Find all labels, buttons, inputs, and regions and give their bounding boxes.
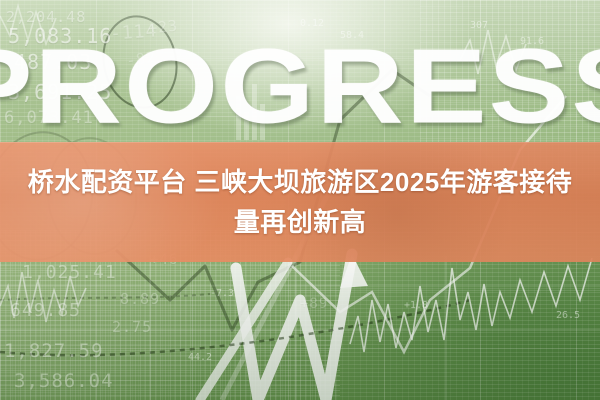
headline-line-1: 桥水配资平台 三峡大坝旅游区2025年游客接待 (20, 162, 581, 202)
ticker-value: 2.75 (112, 318, 152, 336)
progress-watermark: PROGRESS (0, 34, 600, 140)
headline: 桥水配资平台 三峡大坝旅游区2025年游客接待 量再创新高 (0, 142, 600, 262)
headline-line-2: 量再创新高 (234, 202, 367, 242)
ticker-value: 649.85 (10, 300, 81, 321)
ticker-micro-value: 26.5 (556, 310, 580, 321)
banner-image: 2,204.48 5,083.16 487.03 3,691.25 6,073.… (0, 0, 600, 400)
ticker-value: 3,586.04 (14, 370, 114, 392)
ticker-value: 8.89 (120, 290, 160, 308)
ticker-micro-value: +1.8 (404, 300, 428, 311)
ticker-change-value: +89 (300, 296, 328, 312)
ticker-micro-value: -7.3 (210, 288, 234, 299)
ticker-value: 1,827.59 (4, 340, 104, 362)
ticker-micro-value: 44.2 (188, 352, 212, 363)
ticker-value: 1,025.41 (22, 262, 117, 283)
